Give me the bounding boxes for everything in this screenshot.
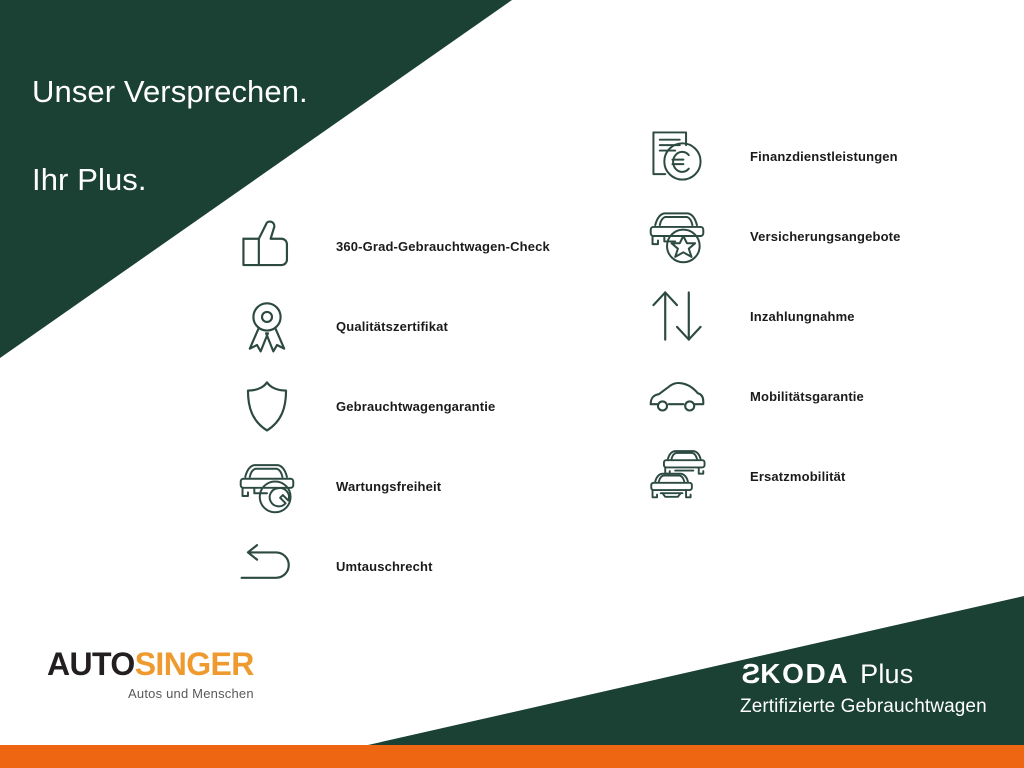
- rosette-certificate-icon: [236, 295, 298, 357]
- feature-item: Inzahlungnahme: [646, 276, 901, 356]
- dealer-logo: AUTOSINGER Autos und Menschen: [47, 648, 254, 701]
- dealer-tagline: Autos und Menschen: [47, 686, 254, 701]
- feature-item: Versicherungsangebote: [646, 196, 901, 276]
- car-star-icon: [646, 205, 708, 267]
- feature-list-left: 360-Grad-Gebrauchtwagen-Check Qualitätsz…: [236, 206, 550, 606]
- feature-item: Qualitätszertifikat: [236, 286, 550, 366]
- document-euro-icon: [646, 125, 708, 187]
- headline-line-2: Ihr Plus.: [32, 158, 308, 202]
- feature-label: Gebrauchtwagengarantie: [336, 399, 495, 414]
- skoda-subtitle: Zertifizierte Gebrauchtwagen: [740, 696, 987, 718]
- headline-line-1: Unser Versprechen.: [32, 70, 308, 114]
- feature-label: Qualitätszertifikat: [336, 319, 448, 334]
- feature-label: Mobilitätsgarantie: [750, 389, 864, 404]
- u-turn-arrow-icon: [236, 535, 298, 597]
- skoda-brand-name: SKODA: [740, 660, 849, 688]
- dealer-wordmark: AUTOSINGER: [47, 648, 254, 680]
- feature-item: 360-Grad-Gebrauchtwagen-Check: [236, 206, 550, 286]
- skoda-s-mark: S: [740, 660, 760, 688]
- skoda-brand-row: SKODA Plus: [740, 660, 987, 688]
- feature-item: Umtauschrecht: [236, 526, 550, 606]
- car-side-icon: [646, 365, 708, 427]
- feature-item: Mobilitätsgarantie: [646, 356, 901, 436]
- orange-footer-bar: [0, 745, 1024, 768]
- skoda-brand-rest: KODA: [760, 658, 849, 689]
- two-cars-icon: [646, 445, 708, 507]
- dealer-wordmark-part1: AUTO: [47, 646, 135, 682]
- skoda-plus-word: Plus: [860, 661, 913, 688]
- feature-label: 360-Grad-Gebrauchtwagen-Check: [336, 239, 550, 254]
- skoda-plus-logo: SKODA Plus Zertifizierte Gebrauchtwagen: [740, 660, 987, 718]
- feature-label: Umtauschrecht: [336, 559, 433, 574]
- thumbs-up-icon: [236, 215, 298, 277]
- promo-banner: Unser Versprechen. Ihr Plus. 360-Grad-Ge…: [0, 0, 1024, 768]
- up-down-arrows-icon: [646, 285, 708, 347]
- feature-label: Finanzdienstleistungen: [750, 149, 898, 164]
- feature-item: Ersatzmobilität: [646, 436, 901, 516]
- feature-label: Versicherungsangebote: [750, 229, 901, 244]
- feature-label: Ersatzmobilität: [750, 469, 845, 484]
- feature-label: Wartungsfreiheit: [336, 479, 441, 494]
- feature-label: Inzahlungnahme: [750, 309, 855, 324]
- feature-item: Gebrauchtwagengarantie: [236, 366, 550, 446]
- car-wrench-icon: [236, 455, 298, 517]
- feature-item: Finanzdienstleistungen: [646, 116, 901, 196]
- feature-list-right: Finanzdienstleistungen Versicherungsange…: [646, 116, 901, 516]
- dealer-wordmark-part2: SINGER: [135, 646, 254, 682]
- shield-icon: [236, 375, 298, 437]
- feature-item: Wartungsfreiheit: [236, 446, 550, 526]
